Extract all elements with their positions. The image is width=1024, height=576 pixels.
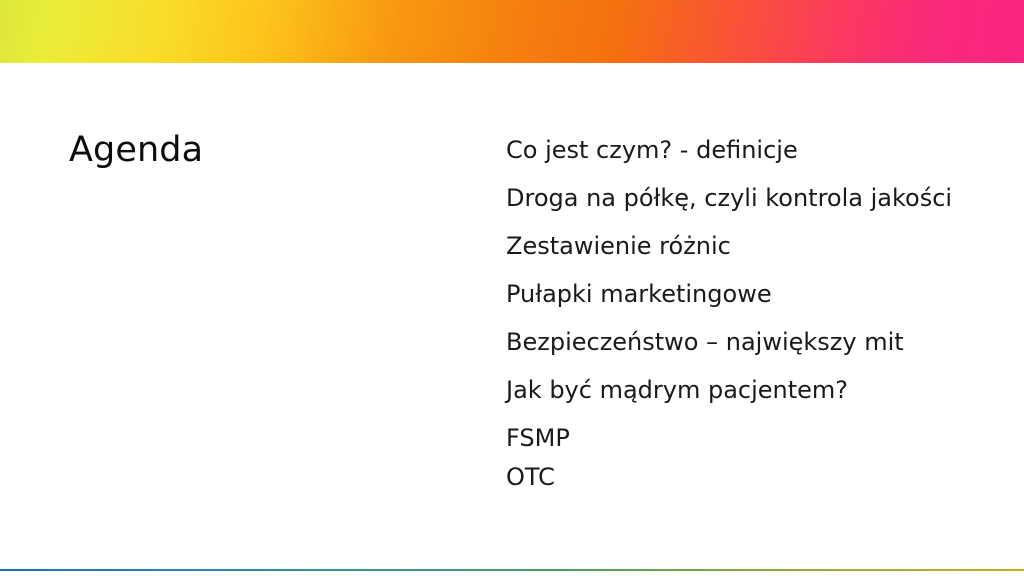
agenda-list: Co jest czym? - definicje Droga na półkę…: [506, 131, 956, 497]
top-gradient-band: [0, 0, 1024, 63]
list-item: Bezpieczeństwo – największy mit: [506, 323, 956, 362]
list-item: OTC: [506, 458, 956, 497]
list-item: Co jest czym? - definicje: [506, 131, 956, 170]
slide: Agenda Co jest czym? - definicje Droga n…: [0, 0, 1024, 576]
list-item: Jak być mądrym pacjentem?: [506, 371, 956, 410]
list-item: Zestawienie różnic: [506, 227, 956, 266]
page-title: Agenda: [69, 130, 203, 170]
slide-content: Agenda Co jest czym? - definicje Droga n…: [0, 63, 1024, 576]
bottom-gradient-rule: [0, 569, 1024, 571]
list-item: FSMP: [506, 419, 956, 458]
list-item: Droga na półkę, czyli kontrola jakości: [506, 179, 956, 218]
list-item: Pułapki marketingowe: [506, 275, 956, 314]
